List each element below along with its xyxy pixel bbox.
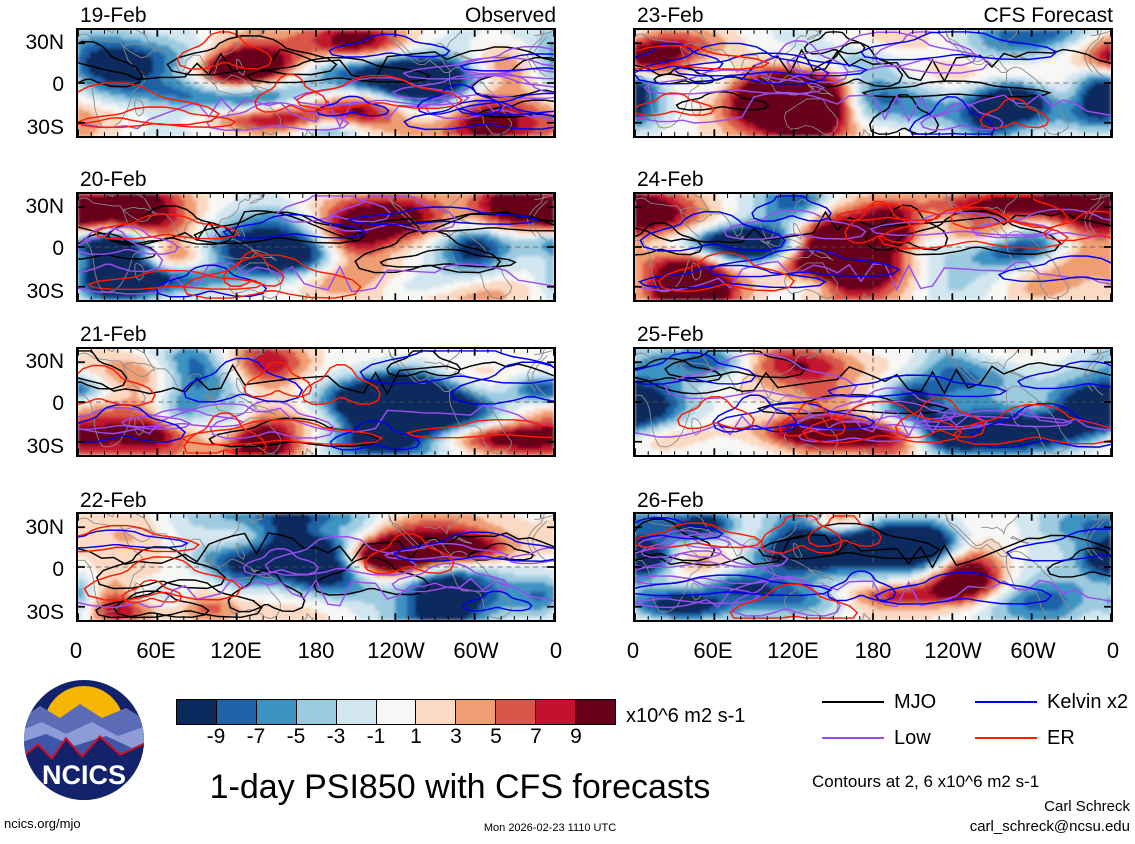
column-header-observed: Observed	[356, 5, 556, 26]
timestamp: Mon 2026-02-23 1110 UTC	[410, 822, 690, 834]
y-axis-label-30s-row2: 30S	[0, 281, 64, 302]
colorbar	[176, 699, 616, 725]
panel-date-21-feb: 21-Feb	[80, 324, 147, 345]
ncics-logo: NCICS	[22, 678, 146, 802]
colorbar-segment-9	[536, 700, 576, 724]
figure-title: 1-day PSI850 with CFS forecasts	[160, 770, 760, 804]
x-axis-label-right-60w: 60W	[993, 640, 1073, 662]
colorbar-tick--3: -3	[327, 726, 346, 747]
y-axis-label-30s-row1: 30S	[0, 117, 64, 138]
legend-item-er: ER	[975, 728, 1075, 748]
x-axis-label-right-360: 0	[1073, 640, 1135, 662]
legend-item-low: Low	[822, 728, 931, 748]
x-axis-label-left-180: 180	[276, 640, 356, 662]
x-axis-label-right-0: 0	[593, 640, 673, 662]
map-panel-24-feb[interactable]	[633, 192, 1113, 302]
colorbar-segment-0	[177, 700, 217, 724]
map-panel-19-feb[interactable]	[76, 28, 556, 138]
colorbar-tick-3: 3	[450, 726, 462, 747]
x-axis-label-right-180: 180	[833, 640, 913, 662]
legend-swatch-low	[822, 737, 884, 739]
panel-date-24-feb: 24-Feb	[637, 169, 704, 190]
x-axis-label-left-60w: 60W	[436, 640, 516, 662]
y-axis-label-30s-row3: 30S	[0, 436, 64, 457]
x-axis-label-left-60e: 60E	[116, 640, 196, 662]
site-url[interactable]: ncics.org/mjo	[4, 816, 81, 831]
colorbar-tick--7: -7	[247, 726, 266, 747]
map-panel-20-feb[interactable]	[76, 192, 556, 302]
map-panel-26-feb[interactable]	[633, 512, 1113, 622]
y-axis-label-30n-row4: 30N	[0, 517, 64, 538]
y-axis-label-30n-row2: 30N	[0, 196, 64, 217]
y-axis-label-30s-row4: 30S	[0, 602, 64, 623]
panel-date-25-feb: 25-Feb	[637, 324, 704, 345]
y-axis-label-30n-row1: 30N	[0, 32, 64, 53]
panel-date-19-feb: 19-Feb	[80, 5, 147, 26]
colorbar-segment-8	[496, 700, 536, 724]
x-axis-label-right-120w: 120W	[913, 640, 993, 662]
panel-date-23-feb: 23-Feb	[637, 5, 704, 26]
x-axis-label-left-360: 0	[516, 640, 596, 662]
column-header-cfs-forecast: CFS Forecast	[873, 5, 1113, 26]
legend-label-low: Low	[894, 728, 931, 748]
x-axis-label-left-0: 0	[36, 640, 116, 662]
legend-swatch-mjo	[822, 701, 884, 703]
legend-swatch-kelvin	[975, 701, 1037, 703]
legend-label-er: ER	[1047, 728, 1075, 748]
figure-canvas: 30N 0 30S 30N 0 30S 30N 0 30S 30N 0 30S …	[0, 0, 1135, 844]
legend-item-mjo: MJO	[822, 692, 936, 712]
colorbar-segment-1	[217, 700, 257, 724]
colorbar-tick--1: -1	[367, 726, 386, 747]
legend-label-kelvin: Kelvin x2	[1047, 692, 1128, 712]
colorbar-unit-label: x10^6 m2 s-1	[626, 705, 745, 728]
colorbar-tick-1: 1	[410, 726, 422, 747]
x-axis-label-right-60e: 60E	[673, 640, 753, 662]
colorbar-tick-7: 7	[530, 726, 542, 747]
author-name: Carl Schreck	[812, 798, 1130, 815]
colorbar-segment-4	[337, 700, 377, 724]
y-axis-label-30n-row3: 30N	[0, 351, 64, 372]
colorbar-tick-9: 9	[570, 726, 582, 747]
colorbar-segment-10	[576, 700, 615, 724]
colorbar-segment-6	[416, 700, 456, 724]
colorbar-tick--9: -9	[207, 726, 226, 747]
map-panel-23-feb[interactable]	[633, 28, 1113, 138]
panel-date-26-feb: 26-Feb	[637, 490, 704, 511]
y-axis-label-0-row3: 0	[0, 393, 64, 414]
colorbar-tick-labels: -9-7-5-3-113579	[176, 726, 616, 752]
map-panel-25-feb[interactable]	[633, 347, 1113, 457]
map-panel-22-feb[interactable]	[76, 512, 556, 622]
x-axis-label-left-120w: 120W	[356, 640, 436, 662]
panel-date-22-feb: 22-Feb	[80, 490, 147, 511]
colorbar-tick-5: 5	[490, 726, 502, 747]
x-axis-label-right-120e: 120E	[753, 640, 833, 662]
legend-swatch-er	[975, 737, 1037, 739]
legend-item-kelvin: Kelvin x2	[975, 692, 1128, 712]
map-panel-21-feb[interactable]	[76, 347, 556, 457]
panel-date-20-feb: 20-Feb	[80, 169, 147, 190]
colorbar-segment-7	[456, 700, 496, 724]
colorbar-segment-5	[377, 700, 417, 724]
y-axis-label-0-row1: 0	[0, 74, 64, 95]
colorbar-segment-2	[257, 700, 297, 724]
contour-note: Contours at 2, 6 x10^6 m2 s-1	[812, 772, 1039, 792]
y-axis-label-0-row2: 0	[0, 238, 64, 259]
author-email[interactable]: carl_schreck@ncsu.edu	[812, 818, 1130, 835]
legend-label-mjo: MJO	[894, 692, 936, 712]
colorbar-segment-3	[297, 700, 337, 724]
y-axis-label-0-row4: 0	[0, 559, 64, 580]
logo-text: NCICS	[42, 760, 126, 790]
colorbar-tick--5: -5	[287, 726, 306, 747]
x-axis-label-left-120e: 120E	[196, 640, 276, 662]
